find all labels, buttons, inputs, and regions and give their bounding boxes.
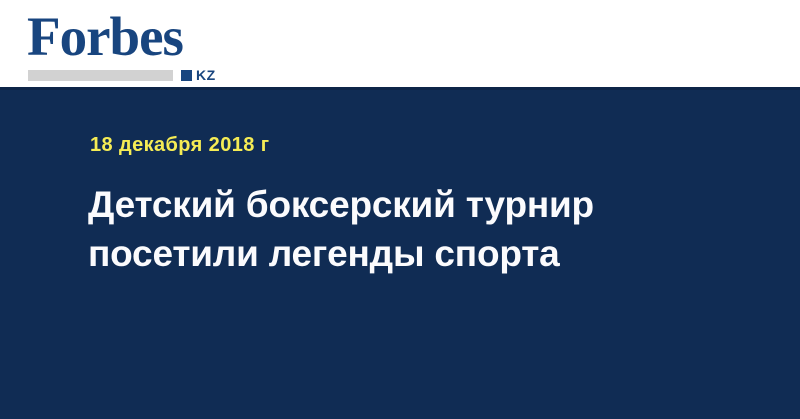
- forbes-kz-logo[interactable]: Forbes KZ: [27, 8, 237, 80]
- logo-kz-label: KZ: [196, 68, 216, 82]
- article-headline[interactable]: Детский боксерский турнир посетили леген…: [88, 180, 728, 278]
- publication-date: 18 декабря 2018 г: [90, 134, 269, 156]
- logo-gray-bar: [28, 70, 173, 81]
- logo-square-icon: [181, 70, 192, 81]
- article-body-panel: 18 декабря 2018 г Детский боксерский тур…: [0, 87, 800, 419]
- forbes-wordmark: Forbes: [27, 8, 183, 66]
- site-header: Forbes KZ: [0, 0, 800, 87]
- headline-line-1: Детский боксерский турнир: [88, 180, 728, 229]
- article-header-card: Forbes KZ 18 декабря 2018 г Детский бокс…: [0, 0, 800, 419]
- headline-line-2: посетили легенды спорта: [88, 229, 728, 278]
